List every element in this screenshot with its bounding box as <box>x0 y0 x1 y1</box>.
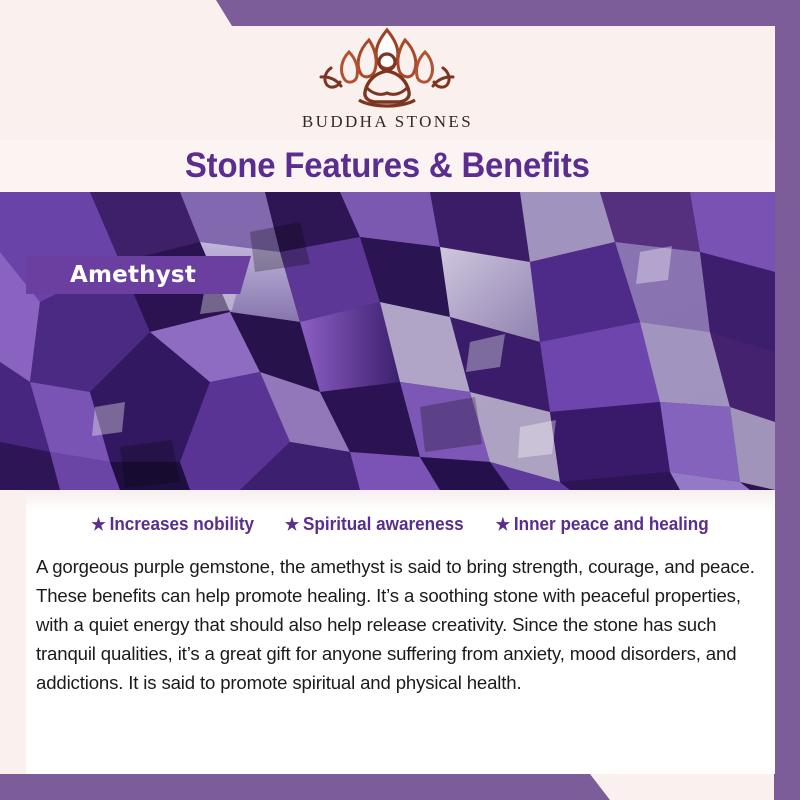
page-title: Stone Features & Benefits <box>185 146 590 186</box>
feature-item-1: ★ Increases nobility <box>91 514 254 535</box>
stone-name: Amethyst <box>70 262 196 288</box>
feature-label-2: Spiritual awareness <box>303 514 464 535</box>
star-icon: ★ <box>285 516 299 533</box>
brand-name: BUDDHA STONES <box>302 112 473 132</box>
stone-description-text: A gorgeous purple gemstone, the amethyst… <box>36 552 771 697</box>
feature-item-3: ★ Inner peace and healing <box>496 514 709 535</box>
stone-name-banner: Amethyst <box>26 256 251 294</box>
frame-border-right <box>774 0 800 800</box>
lotus-meditation-icon <box>307 22 467 108</box>
stone-info-card: BUDDHA STONES Stone Features & Benefits <box>0 0 800 800</box>
amethyst-crystal-image <box>0 192 775 490</box>
card-header: BUDDHA STONES Stone Features & Benefits <box>0 0 775 192</box>
star-icon: ★ <box>496 516 510 533</box>
brand-logo: BUDDHA STONES <box>302 22 473 132</box>
feature-list: ★ Increases nobility ★ Spiritual awarene… <box>26 514 775 535</box>
feature-label-1: Increases nobility <box>109 514 253 535</box>
stone-photo <box>0 192 775 490</box>
star-icon: ★ <box>91 516 105 533</box>
page-title-band: Stone Features & Benefits <box>0 140 775 192</box>
stone-description-panel: ★ Increases nobility ★ Spiritual awarene… <box>26 490 775 774</box>
frame-border-bottom <box>0 774 800 800</box>
panel-top-fade <box>26 490 775 512</box>
feature-label-3: Inner peace and healing <box>514 514 709 535</box>
feature-item-2: ★ Spiritual awareness <box>285 514 464 535</box>
